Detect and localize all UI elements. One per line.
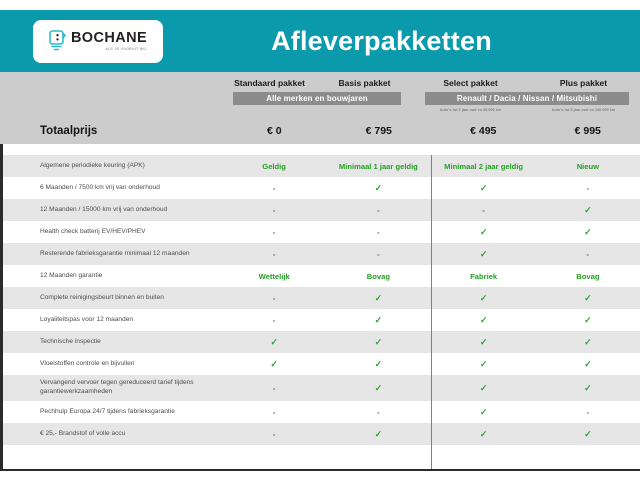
total-price-row: Totaalprijs € 0 € 795 € 495 € 995: [0, 118, 640, 144]
feature-value-select: ✓: [431, 423, 536, 445]
check-icon: ✓: [480, 429, 488, 440]
not-included-icon: -: [273, 408, 276, 417]
package-name-select[interactable]: Select pakket: [414, 78, 527, 88]
price-standaard: € 0: [222, 125, 327, 137]
feature-label: Loyaliteitspas voor 12 maanden: [3, 316, 222, 325]
table-row: Loyaliteitspas voor 12 maanden-✓✓✓: [0, 309, 640, 331]
table-footer-row: [0, 445, 640, 469]
package-badge-all-brands: Alle merken en bouwjaren: [233, 92, 401, 105]
feature-value-plus: -: [536, 401, 640, 423]
feature-label: 6 Maanden / 7500 km vrij van onderhoud: [3, 184, 222, 193]
brand-logo[interactable]: BOCHANE ALS JE VOORUIT WIL: [33, 20, 163, 63]
not-included-icon: -: [587, 184, 590, 193]
feature-values: ✓✓✓✓: [222, 353, 640, 375]
feature-value-standaard: ✓: [222, 331, 326, 353]
feature-value-standaard: ✓: [222, 353, 326, 375]
not-included-icon: -: [273, 384, 276, 393]
feature-values: --✓-: [222, 243, 640, 265]
feature-value-plus: ✓: [536, 423, 640, 445]
feature-label: € 25,- Brandstof of volle accu: [3, 430, 222, 439]
price-select: € 495: [431, 125, 536, 137]
feature-value-standaard: Wettelijk: [222, 265, 326, 287]
table-row: Technische inspectie✓✓✓✓: [0, 331, 640, 353]
feature-value-text: Bovag: [576, 272, 599, 281]
feature-value-text: Minimaal 2 jaar geldig: [444, 162, 523, 171]
check-icon: ✓: [480, 315, 488, 326]
table-footer-cell: [536, 445, 640, 469]
fineprint-plus: Auto's tot 5 jaar oud en 100.000 km: [527, 108, 640, 112]
feature-value-select: ✓: [431, 221, 536, 243]
price-basis: € 795: [327, 125, 432, 137]
feature-values: GeldigMinimaal 1 jaar geldigMinimaal 2 j…: [222, 155, 640, 177]
table-row: 12 Maanden / 15000 km vrij van onderhoud…: [0, 199, 640, 221]
feature-value-basis: Minimaal 1 jaar geldig: [326, 155, 430, 177]
not-included-icon: -: [273, 184, 276, 193]
package-fineprint-right: Auto's tot 3 jaar oud en 30.000 km Auto'…: [414, 108, 640, 112]
feature-value-select: -: [431, 199, 536, 221]
check-icon: ✓: [375, 359, 383, 370]
table-row: Health check batterij EV/HEV/PHEV--✓✓: [0, 221, 640, 243]
table-footer-cell: [431, 445, 536, 469]
check-icon: ✓: [584, 227, 592, 238]
feature-value-standaard: -: [222, 177, 326, 199]
feature-label: Vervangend vervoer tegen gereduceerd tar…: [3, 379, 222, 397]
table-row: € 25,- Brandstof of volle accu-✓✓✓: [0, 423, 640, 445]
check-icon: ✓: [584, 315, 592, 326]
table-row: Algemene periodieke keuring (APK)GeldigM…: [0, 155, 640, 177]
check-icon: ✓: [480, 249, 488, 260]
feature-value-text: Geldig: [262, 162, 286, 171]
feature-value-basis: -: [326, 199, 430, 221]
feature-value-basis: -: [326, 221, 430, 243]
not-included-icon: -: [273, 206, 276, 215]
feature-value-plus: ✓: [536, 287, 640, 309]
feature-values: -✓✓✓: [222, 309, 640, 331]
check-icon: ✓: [480, 359, 488, 370]
feature-values: WettelijkBovagFabriekBovag: [222, 265, 640, 287]
feature-values: -✓✓✓: [222, 375, 640, 401]
check-icon: ✓: [480, 183, 488, 194]
feature-value-select: ✓: [431, 243, 536, 265]
feature-value-standaard: -: [222, 199, 326, 221]
table-top-spacer: [0, 144, 640, 155]
not-included-icon: -: [377, 206, 380, 215]
feature-value-basis: ✓: [326, 177, 430, 199]
check-icon: ✓: [480, 383, 488, 394]
feature-value-basis: ✓: [326, 375, 430, 401]
table-row: Resterende fabrieksgarantie minimaal 12 …: [0, 243, 640, 265]
total-price-values: € 0 € 795 € 495 € 995: [222, 125, 640, 137]
check-icon: ✓: [375, 337, 383, 348]
check-icon: ✓: [480, 227, 488, 238]
table-row: 6 Maanden / 7500 km vrij van onderhoud-✓…: [0, 177, 640, 199]
feature-value-text: Wettelijk: [259, 272, 290, 281]
feature-value-select: ✓: [431, 309, 536, 331]
not-included-icon: -: [273, 228, 276, 237]
check-icon: ✓: [480, 293, 488, 304]
table-row: Vloeistoffen controle en bijvullen✓✓✓✓: [0, 353, 640, 375]
feature-values: --✓-: [222, 401, 640, 423]
feature-value-basis: ✓: [326, 287, 430, 309]
feature-label: Technische inspectie: [3, 338, 222, 347]
not-included-icon: -: [273, 294, 276, 303]
feature-value-standaard: -: [222, 221, 326, 243]
page-header: BOCHANE ALS JE VOORUIT WIL Afleverpakket…: [0, 10, 640, 72]
feature-values: -✓✓-: [222, 177, 640, 199]
table-row: Pechhulp Europa 24/7 tijdens fabrieksgar…: [0, 401, 640, 423]
not-included-icon: -: [587, 250, 590, 259]
check-icon: ✓: [584, 205, 592, 216]
feature-value-basis: ✓: [326, 331, 430, 353]
not-included-icon: -: [377, 250, 380, 259]
check-icon: ✓: [480, 337, 488, 348]
feature-value-text: Nieuw: [577, 162, 599, 171]
feature-value-standaard: -: [222, 287, 326, 309]
feature-values: ---✓: [222, 199, 640, 221]
check-icon: ✓: [375, 183, 383, 194]
check-icon: ✓: [270, 359, 278, 370]
feature-value-plus: -: [536, 177, 640, 199]
not-included-icon: -: [587, 408, 590, 417]
feature-value-text: Bovag: [367, 272, 390, 281]
feature-value-plus: ✓: [536, 353, 640, 375]
check-icon: ✓: [584, 337, 592, 348]
check-icon: ✓: [375, 383, 383, 394]
table-footer-cell: [222, 445, 326, 469]
feature-value-standaard: -: [222, 375, 326, 401]
feature-values: ✓✓✓✓: [222, 331, 640, 353]
check-icon: ✓: [375, 315, 383, 326]
table-footer-cells: [222, 445, 640, 469]
feature-value-select: ✓: [431, 375, 536, 401]
feature-label: 12 Maanden / 15000 km vrij van onderhoud: [3, 206, 222, 215]
feature-value-plus: Bovag: [536, 265, 640, 287]
brand-tagline: ALS JE VOORUIT WIL: [105, 48, 147, 51]
package-name-basis[interactable]: Basis pakket: [317, 78, 412, 88]
feature-value-text: Fabriek: [470, 272, 497, 281]
feature-comparison-table: Algemene periodieke keuring (APK)GeldigM…: [0, 155, 640, 471]
check-icon: ✓: [375, 429, 383, 440]
feature-values: --✓✓: [222, 221, 640, 243]
feature-value-plus: ✓: [536, 221, 640, 243]
feature-value-basis: -: [326, 243, 430, 265]
table-row: Vervangend vervoer tegen gereduceerd tar…: [0, 375, 640, 401]
package-name-standaard[interactable]: Standaard pakket: [222, 78, 317, 88]
feature-value-plus: ✓: [536, 309, 640, 331]
feature-label: Resterende fabrieksgarantie minimaal 12 …: [3, 250, 222, 259]
feature-value-basis: Bovag: [326, 265, 430, 287]
table-row: 12 Maanden garantieWettelijkBovagFabriek…: [0, 265, 640, 287]
feature-value-select: ✓: [431, 353, 536, 375]
feature-value-basis: -: [326, 401, 430, 423]
feature-value-standaard: -: [222, 309, 326, 331]
feature-value-basis: ✓: [326, 353, 430, 375]
feature-label: Algemene periodieke keuring (APK): [3, 162, 222, 171]
table-row: Complete reinigingsbeurt binnen en buite…: [0, 287, 640, 309]
feature-label: Vloeistoffen controle en bijvullen: [3, 360, 222, 369]
price-plus: € 995: [536, 125, 640, 137]
package-name-plus[interactable]: Plus pakket: [527, 78, 640, 88]
feature-label: Complete reinigingsbeurt binnen en buite…: [3, 294, 222, 303]
feature-value-plus: -: [536, 243, 640, 265]
feature-value-select: ✓: [431, 401, 536, 423]
fineprint-select: Auto's tot 3 jaar oud en 30.000 km: [414, 108, 527, 112]
feature-value-select: Minimaal 2 jaar geldig: [431, 155, 536, 177]
feature-value-select: ✓: [431, 331, 536, 353]
not-included-icon: -: [377, 408, 380, 417]
not-included-icon: -: [273, 430, 276, 439]
feature-value-select: ✓: [431, 177, 536, 199]
feature-value-plus: ✓: [536, 331, 640, 353]
not-included-icon: -: [482, 206, 485, 215]
car-badge-icon: [49, 30, 66, 52]
not-included-icon: -: [273, 250, 276, 259]
feature-label: Pechhulp Europa 24/7 tijdens fabrieksgar…: [3, 408, 222, 417]
feature-value-standaard: -: [222, 243, 326, 265]
check-icon: ✓: [584, 359, 592, 370]
table-footer-cell: [326, 445, 430, 469]
feature-value-select: ✓: [431, 287, 536, 309]
package-names-right: Select pakket Plus pakket: [414, 78, 640, 88]
brand-name: BOCHANE: [71, 31, 147, 46]
check-icon: ✓: [584, 429, 592, 440]
feature-value-basis: ✓: [326, 309, 430, 331]
feature-values: -✓✓✓: [222, 423, 640, 445]
check-icon: ✓: [270, 337, 278, 348]
feature-value-basis: ✓: [326, 423, 430, 445]
not-included-icon: -: [273, 316, 276, 325]
feature-value-standaard: Geldig: [222, 155, 326, 177]
afleverpakketten-page: BOCHANE ALS JE VOORUIT WIL Afleverpakket…: [0, 0, 640, 480]
check-icon: ✓: [584, 293, 592, 304]
not-included-icon: -: [377, 228, 380, 237]
feature-value-standaard: -: [222, 423, 326, 445]
feature-value-plus: ✓: [536, 375, 640, 401]
check-icon: ✓: [480, 407, 488, 418]
check-icon: ✓: [584, 383, 592, 394]
feature-label: Health check batterij EV/HEV/PHEV: [3, 228, 222, 237]
feature-value-plus: Nieuw: [536, 155, 640, 177]
package-badge-brands: Renault / Dacia / Nissan / Mitsubishi: [425, 92, 629, 105]
feature-value-plus: ✓: [536, 199, 640, 221]
feature-values: -✓✓✓: [222, 287, 640, 309]
feature-value-text: Minimaal 1 jaar geldig: [339, 162, 418, 171]
feature-value-standaard: -: [222, 401, 326, 423]
feature-label: 12 Maanden garantie: [3, 272, 222, 281]
page-title: Afleverpakketten: [163, 26, 640, 57]
feature-value-select: Fabriek: [431, 265, 536, 287]
check-icon: ✓: [375, 293, 383, 304]
total-price-label: Totaalprijs: [0, 125, 222, 137]
package-names-left: Standaard pakket Basis pakket: [222, 78, 412, 88]
